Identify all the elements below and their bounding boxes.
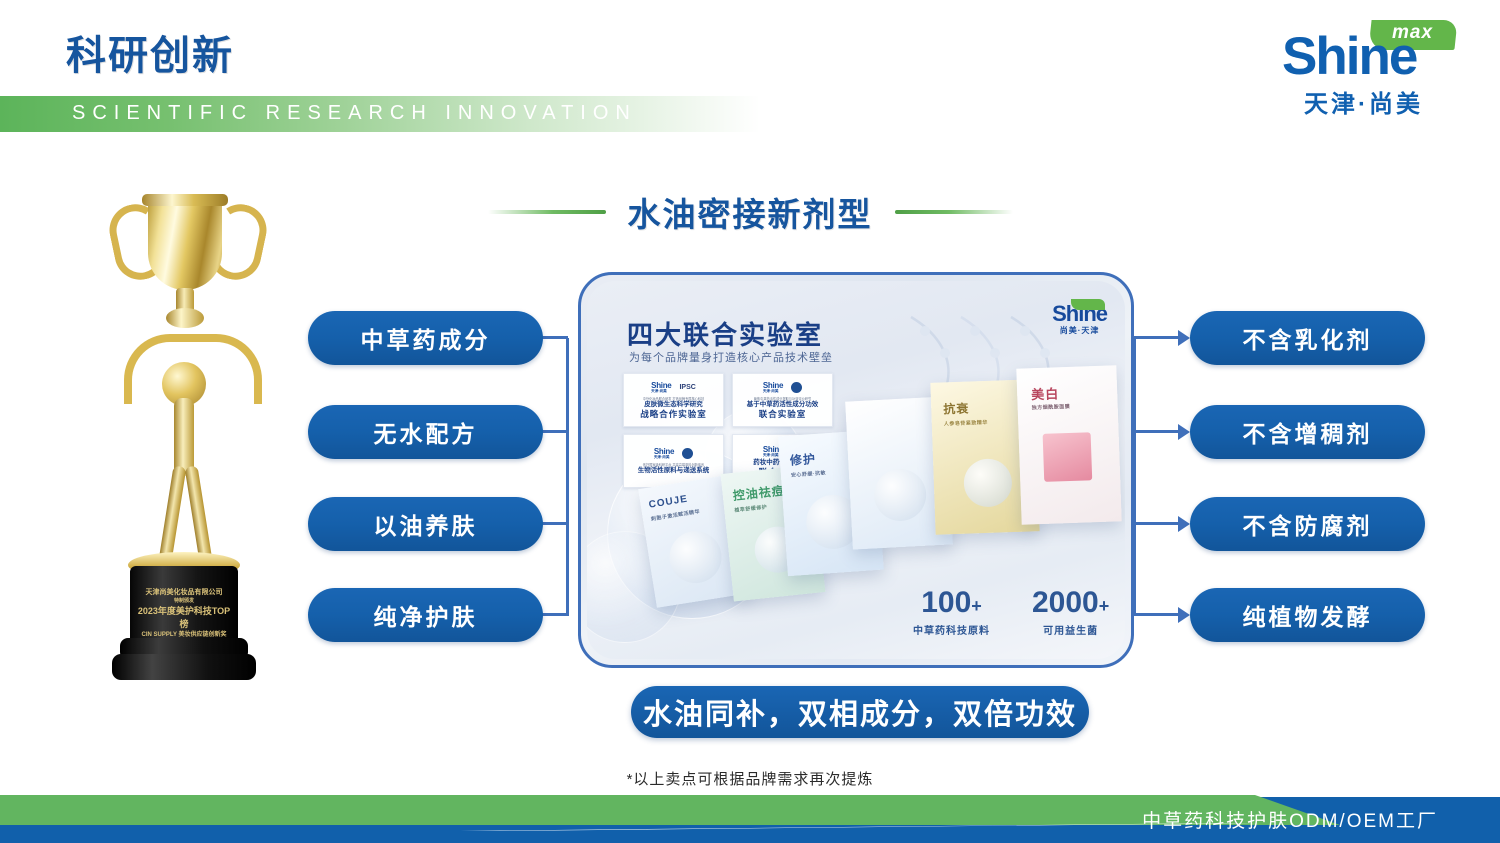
lab-partner-name: IPSC [679, 384, 695, 391]
connector-branch-right-1 [1133, 336, 1179, 339]
arrow-right-2 [1178, 424, 1190, 440]
stat-label: 中草药科技原料 [913, 622, 990, 637]
lab-brand-shine-sub: 天津·尚美 [763, 390, 783, 394]
lab-partner-seal-icon [791, 382, 802, 393]
lab-brand-row: Shine 天津·尚美 [763, 381, 802, 395]
poster-heading: 四大联合实验室 [627, 315, 823, 352]
lab-card: Shine 天津·尚美 聚焦中草药活性成分提取与功效评价研究 基于中草药活性成分… [732, 373, 833, 427]
feature-pill-left-1[interactable]: 中草药成分 [308, 311, 543, 365]
product-box-art [963, 458, 1013, 508]
trophy-cup [148, 198, 222, 290]
poster-canvas: Shine 尚美·天津 四大联合实验室 为每个品牌量身打造核心产品技术壁垒 Sh… [587, 281, 1125, 659]
lab-title-main: 战略合作实验室 [640, 409, 707, 420]
trophy-base-tier-2 [112, 654, 256, 680]
product-box-sub: 植萃舒缓修护 [734, 503, 768, 513]
lab-title: 皮肤微生态科学研究 战略合作实验室 [640, 401, 707, 420]
stat-value: 100+ [913, 588, 990, 618]
trophy-cup-lip [142, 194, 228, 206]
stat-plus: + [971, 596, 982, 616]
footer-text: 中草药科技护肤ODM/OEM工厂 [1142, 806, 1438, 833]
footnote-text: *以上卖点可根据品牌需求再次提炼 [0, 768, 1500, 789]
lab-brand-shine: Shine 天津·尚美 [763, 382, 783, 394]
page-subtitle-english: SCIENTIFIC RESEARCH INNOVATION [72, 102, 637, 125]
section-title: 水油密接新剂型 [628, 188, 873, 236]
product-box-art [873, 468, 928, 523]
arrow-right-1 [1178, 330, 1190, 346]
trophy-base-line-2: 特制颁发 [134, 598, 234, 605]
trophy-figure-leg-right [185, 466, 213, 563]
product-box: 美白 独方烟酰胺面膜 [1016, 365, 1121, 524]
connector-branch-right-4 [1133, 613, 1179, 616]
product-box-sub: 安心舒缓·抗敏 [791, 469, 827, 478]
trophy-base-inscription: 天津尚美化妆品有限公司 特制颁发 2023年度美护科技TOP榜 CIN SUPP… [134, 588, 234, 640]
product-box-label: 控油祛痘 [732, 482, 786, 504]
trophy-image: 天津尚美化妆品有限公司 特制颁发 2023年度美护科技TOP榜 CIN SUPP… [62, 182, 302, 702]
lab-brand-shine-sub: 天津·尚美 [654, 456, 674, 460]
lab-brand-shine: Shine 天津·尚美 [651, 382, 671, 394]
lab-title-top: 皮肤微生态科学研究 [644, 401, 703, 408]
trophy-base-line-1: 天津尚美化妆品有限公司 [134, 588, 234, 598]
feature-pill-left-4[interactable]: 纯净护肤 [308, 588, 543, 642]
feature-pill-right-1[interactable]: 不含乳化剂 [1190, 311, 1425, 365]
lab-title-main: 联合实验室 [747, 409, 819, 420]
trophy-figure-leg-left [159, 466, 187, 563]
stat-plus: + [1099, 596, 1110, 616]
divider-line-right [895, 210, 1013, 214]
brand-logo: max Shine 天津·尚美 [1282, 18, 1472, 114]
lab-title: 基于中草药活性成分功效 联合实验室 [747, 401, 819, 420]
footer-green-bar [0, 795, 1340, 825]
connector-spine-left [566, 338, 569, 616]
stat-item: 2000+ 可用益生菌 [1032, 588, 1109, 637]
lab-card: Shine 天津·尚美 IPSC 中外化妆品联合研发 打造品牌专属核心科技 皮肤… [623, 373, 724, 427]
product-box-sub: 人参皂苷紧致精华 [944, 419, 988, 428]
page-title: 科研创新 [66, 36, 234, 76]
stat-label: 可用益生菌 [1032, 622, 1109, 637]
trophy-base-line-3: 2023年度美护科技TOP榜 [134, 605, 234, 631]
lab-title: 生物活性原料与递送系统 [638, 467, 710, 475]
lab-partner-seal-icon [682, 448, 693, 459]
lab-brand-row: Shine 天津·尚美 IPSC [651, 381, 696, 395]
poster-logo-sub: 尚美·天津 [1052, 325, 1107, 336]
product-box-label: COUJE [648, 494, 689, 511]
lab-brand-shine-sub: 天津·尚美 [651, 390, 671, 394]
product-box-art [1043, 432, 1093, 482]
lab-title-top: 生物活性原料与递送系统 [638, 467, 710, 474]
connector-branch-right-2 [1133, 430, 1179, 433]
stat-item: 100+ 中草药科技原料 [913, 588, 990, 637]
feature-pill-left-2[interactable]: 无水配方 [308, 405, 543, 459]
product-box-sub: 独方烟酰胺面膜 [1032, 403, 1071, 411]
logo-brand-text: Shine [1282, 30, 1416, 83]
lab-card-row: Shine 天津·尚美 IPSC 中外化妆品联合研发 打造品牌专属核心科技 皮肤… [623, 373, 833, 427]
product-box-label: 抗衰 [943, 400, 970, 418]
trophy-knob [166, 308, 204, 328]
divider-line-left [488, 210, 606, 214]
poster-subheading: 为每个品牌量身打造核心产品技术壁垒 [629, 349, 833, 365]
stat-number: 2000 [1032, 586, 1099, 619]
feature-pill-right-4[interactable]: 纯植物发酵 [1190, 588, 1425, 642]
product-box-art [666, 527, 725, 586]
arrow-right-3 [1178, 516, 1190, 532]
feature-pill-right-3[interactable]: 不含防腐剂 [1190, 497, 1425, 551]
arrow-right-4 [1178, 607, 1190, 623]
feature-pill-right-2[interactable]: 不含增稠剂 [1190, 405, 1425, 459]
product-box-sub: 刺胞子激活赋活精华 [650, 508, 700, 523]
lab-title-top: 基于中草药活性成分功效 [747, 401, 819, 408]
lab-brand-shine: Shine 天津·尚美 [654, 448, 674, 460]
stat-value: 2000+ [1032, 588, 1109, 618]
poster-stats: 100+ 中草药科技原料 2000+ 可用益生菌 [913, 588, 1109, 637]
lab-brand-row: Shine 天津·尚美 [654, 447, 693, 461]
poster-leaf-icon [1071, 299, 1105, 310]
feature-pill-left-3[interactable]: 以油养肤 [308, 497, 543, 551]
product-poster: Shine 尚美·天津 四大联合实验室 为每个品牌量身打造核心产品技术壁垒 Sh… [578, 272, 1134, 668]
product-box-label: 修护 [789, 450, 816, 469]
slide-root: 科研创新 SCIENTIFIC RESEARCH INNOVATION max … [0, 0, 1500, 843]
summary-banner: 水油同补，双相成分，双倍功效 [631, 686, 1089, 738]
product-box-label: 美白 [1031, 383, 1060, 403]
trophy-figure-body [174, 398, 194, 476]
stat-number: 100 [921, 586, 971, 619]
connector-branch-right-3 [1133, 522, 1179, 525]
poster-brand-logo: Shine 尚美·天津 [1052, 303, 1107, 336]
logo-sub-text: 天津·尚美 [1304, 84, 1423, 119]
